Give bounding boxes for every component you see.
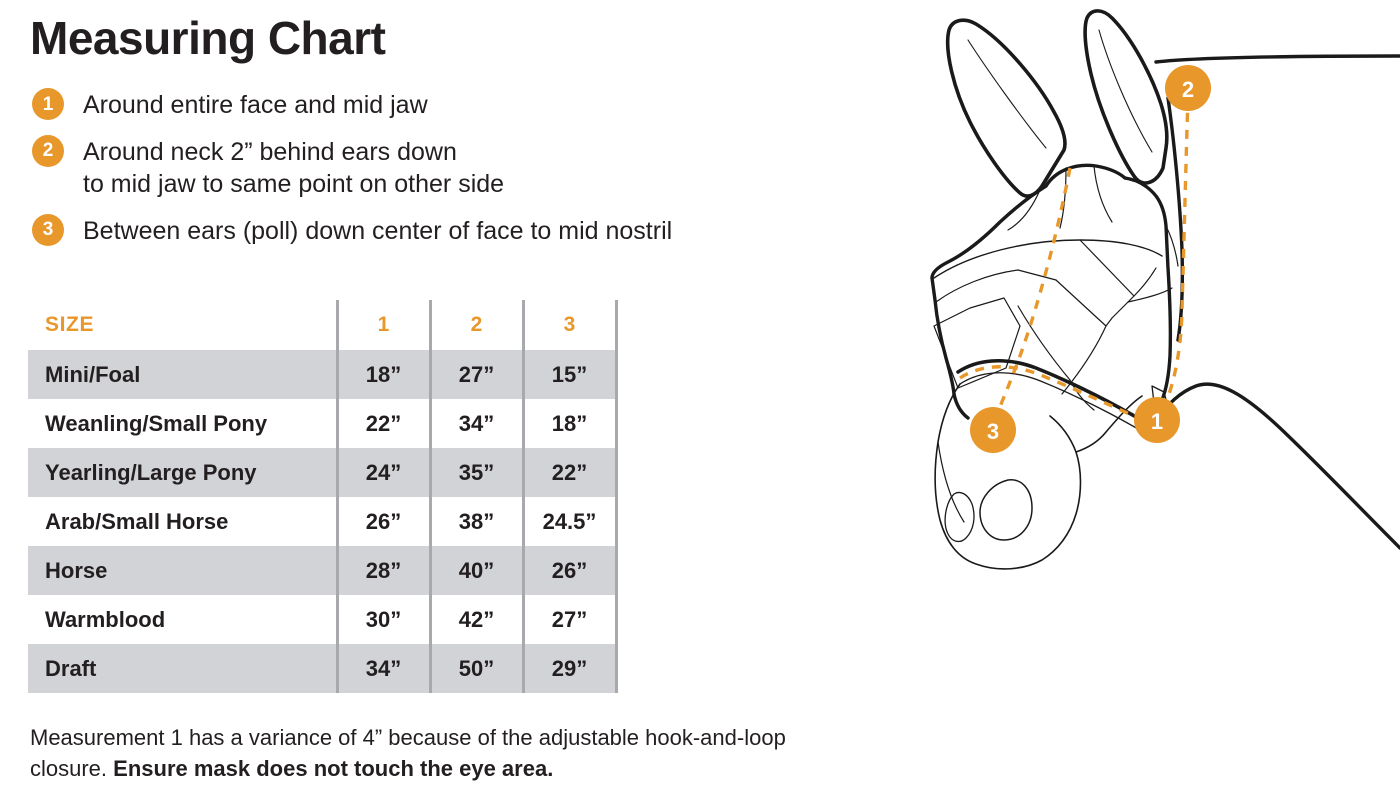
- badge-label-1: 1: [1151, 409, 1163, 434]
- cell-size: Weanling/Small Pony: [28, 399, 337, 448]
- cell-m2: 34”: [430, 399, 523, 448]
- instruction-item-3: 3 Between ears (poll) down center of fac…: [32, 214, 852, 248]
- cell-m3: 15”: [523, 350, 616, 399]
- instruction-text-1: Around entire face and mid jaw: [83, 88, 428, 122]
- cell-m2: 42”: [430, 595, 523, 644]
- instruction-text-3: Between ears (poll) down center of face …: [83, 214, 672, 248]
- left-content-panel: Measuring Chart 1 Around entire face and…: [0, 0, 880, 785]
- mask-left-lower-edge: [954, 394, 968, 418]
- cell-m1: 18”: [337, 350, 430, 399]
- table-row: Yearling/Large Pony 24” 35” 22”: [28, 448, 616, 497]
- seam-poll-right: [1094, 166, 1112, 222]
- table-row: Draft 34” 50” 29”: [28, 644, 616, 693]
- table-row: Mini/Foal 18” 27” 15”: [28, 350, 616, 399]
- right-ear-inner-line: [1099, 30, 1152, 152]
- footnote-bold-text: Ensure mask does not touch the eye area.: [113, 756, 553, 781]
- seam-eye-bubble: [934, 298, 1020, 388]
- cell-m3: 18”: [523, 399, 616, 448]
- instruction-line-2b: to mid jaw to same point on other side: [83, 168, 504, 201]
- cell-m1: 28”: [337, 546, 430, 595]
- left-ear-outline: [948, 20, 1065, 196]
- horse-head-illustration: 2 1 3: [880, 0, 1400, 785]
- cell-size: Mini/Foal: [28, 350, 337, 399]
- callout-badge-1: 1: [1134, 397, 1180, 443]
- nostril-crease-icon: [945, 492, 974, 541]
- nostril-icon: [980, 480, 1032, 540]
- cell-m2: 50”: [430, 644, 523, 693]
- size-table: SIZE 1 2 3 Mini/Foal 18” 27” 15” Weanlin…: [28, 300, 618, 693]
- callout-badge-2: 2: [1165, 65, 1211, 111]
- cell-m2: 38”: [430, 497, 523, 546]
- cell-m1: 22”: [337, 399, 430, 448]
- table-header: SIZE 1 2 3: [28, 300, 616, 350]
- column-header-3: 3: [523, 300, 616, 350]
- instruction-text-2: Around neck 2” behind ears down to mid j…: [83, 135, 504, 201]
- cell-size: Arab/Small Horse: [28, 497, 337, 546]
- muzzle-left-crease: [938, 442, 964, 522]
- badge-number-1-icon: 1: [32, 88, 64, 120]
- column-header-size: SIZE: [28, 300, 337, 350]
- seam-eye-socket-right: [1056, 280, 1112, 326]
- callout-badge-3: 3: [970, 407, 1016, 453]
- cell-size: Yearling/Large Pony: [28, 448, 337, 497]
- column-header-1: 1: [337, 300, 430, 350]
- badge-label-3: 3: [987, 419, 999, 444]
- cell-m3: 26”: [523, 546, 616, 595]
- column-header-2: 2: [430, 300, 523, 350]
- table-row: Arab/Small Horse 26” 38” 24.5”: [28, 497, 616, 546]
- page-title: Measuring Chart: [30, 14, 385, 62]
- horse-head-fly-mask-icon: 2 1 3: [880, 0, 1400, 785]
- table-header-row: SIZE 1 2 3: [28, 300, 616, 350]
- cell-m3: 29”: [523, 644, 616, 693]
- badge-label-2: 2: [1182, 77, 1194, 102]
- seam-eye-dart-upper: [1080, 240, 1134, 318]
- size-table-wrapper: SIZE 1 2 3 Mini/Foal 18” 27” 15” Weanlin…: [28, 300, 616, 693]
- instruction-item-1: 1 Around entire face and mid jaw: [32, 88, 852, 122]
- right-ear-outline: [1085, 11, 1167, 183]
- table-row: Warmblood 30” 42” 27”: [28, 595, 616, 644]
- cell-m1: 30”: [337, 595, 430, 644]
- badge-number-3-icon: 3: [32, 214, 64, 246]
- mask-right-edge: [1125, 178, 1170, 400]
- cell-size: Horse: [28, 546, 337, 595]
- instruction-line-2a: Around neck 2” behind ears down: [83, 138, 457, 166]
- cell-size: Draft: [28, 644, 337, 693]
- cell-m3: 22”: [523, 448, 616, 497]
- footnote: Measurement 1 has a variance of 4” becau…: [30, 722, 820, 784]
- measuring-chart-page: Measuring Chart 1 Around entire face and…: [0, 0, 1400, 785]
- cell-m1: 26”: [337, 497, 430, 546]
- seam-cheek-left: [1018, 306, 1070, 380]
- badge-number-2-icon: 2: [32, 135, 64, 167]
- neck-shoulder-curve: [1156, 384, 1400, 548]
- cell-m1: 24”: [337, 448, 430, 497]
- instruction-line-1a: Around entire face and mid jaw: [83, 91, 428, 119]
- cell-m2: 27”: [430, 350, 523, 399]
- cell-m3: 27”: [523, 595, 616, 644]
- poll-top-line: [1046, 165, 1125, 186]
- cell-m3: 24.5”: [523, 497, 616, 546]
- neck-topline: [1156, 56, 1400, 62]
- seam-eye-socket-top: [936, 270, 1056, 302]
- table-row: Horse 28” 40” 26”: [28, 546, 616, 595]
- cell-m2: 35”: [430, 448, 523, 497]
- table-body: Mini/Foal 18” 27” 15” Weanling/Small Pon…: [28, 350, 616, 693]
- instruction-list: 1 Around entire face and mid jaw 2 Aroun…: [32, 88, 852, 260]
- cell-size: Warmblood: [28, 595, 337, 644]
- seam-eye-dart-edge: [1134, 268, 1156, 296]
- left-ear-inner-line: [968, 40, 1046, 148]
- instruction-item-2: 2 Around neck 2” behind ears down to mid…: [32, 135, 852, 201]
- table-row: Weanling/Small Pony 22” 34” 18”: [28, 399, 616, 448]
- cell-m1: 34”: [337, 644, 430, 693]
- cell-m2: 40”: [430, 546, 523, 595]
- instruction-line-3a: Between ears (poll) down center of face …: [83, 217, 672, 245]
